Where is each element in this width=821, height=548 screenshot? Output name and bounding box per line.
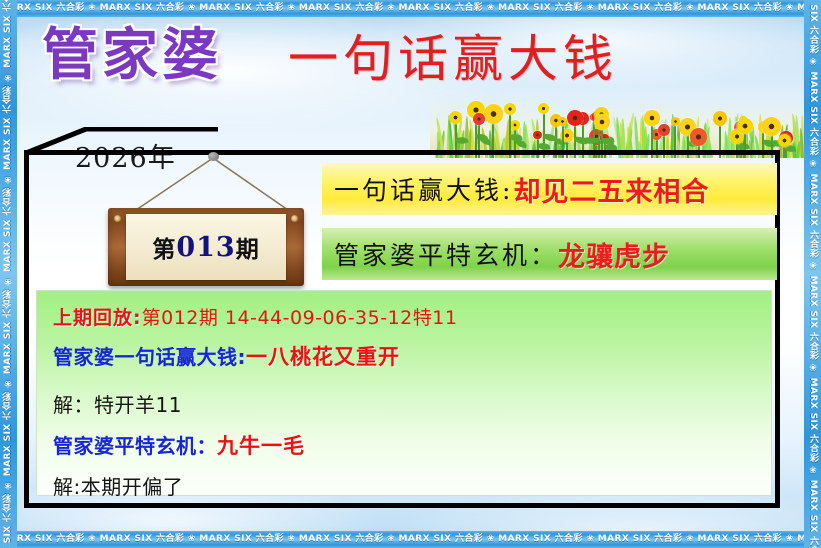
poster-page: 管家婆 一句话赢大钱 MARX SIX 六合彩 ❀ MARX SIX 六合彩 ❀… — [0, 0, 821, 548]
panel-row-saying-label: 管家婆一句话赢大钱: — [53, 341, 246, 370]
issue-number: 013 — [176, 232, 235, 263]
flower-head — [594, 114, 610, 130]
flower-head — [473, 113, 485, 125]
banner-yellow: 一句话赢大钱: 却见二五来相合 — [322, 163, 777, 215]
plaque-nail-icon — [208, 152, 219, 161]
plaque-board: 第013期 — [108, 208, 304, 286]
panel-row-answer-1: 解：特开羊11 — [37, 389, 771, 418]
issue-number-display: 第013期 — [126, 214, 286, 280]
flower-head — [644, 110, 660, 126]
flower-head — [533, 131, 542, 140]
border-strip-bottom: MARX SIX 六合彩 ❀ MARX SIX 六合彩 ❀ MARX SIX 六… — [0, 531, 821, 548]
flower-head — [658, 124, 670, 136]
banner-green: 管家婆平特玄机： 龙骧虎步 — [322, 228, 777, 280]
replay-row: 上期回放: 第012期 14-44-09-06-35-12特11 — [37, 303, 771, 330]
panel-row-mystery-value: 九牛一毛 — [217, 430, 305, 460]
flower-head — [538, 103, 549, 114]
flower-head — [778, 134, 791, 147]
border-strip-right: MARX SIX 六合彩 ❀ MARX SIX 六合彩 ❀ MARX SIX 六… — [804, 0, 821, 548]
panel-row-mystery: 管家婆平特玄机： 九牛一毛 — [37, 430, 771, 460]
hanging-plaque: 第013期 — [90, 150, 320, 290]
replay-value: 第012期 14-44-09-06-35-12特11 — [142, 303, 458, 330]
border-strip-top: MARX SIX 六合彩 ❀ MARX SIX 六合彩 ❀ MARX SIX 六… — [0, 0, 821, 17]
panel-row-answer-1-label: 解：特开羊11 — [53, 389, 182, 418]
flower-head — [762, 117, 781, 136]
flower-head — [690, 128, 708, 146]
banner-yellow-label: 一句话赢大钱: — [334, 171, 513, 207]
banner-green-label: 管家婆平特玄机： — [334, 236, 558, 272]
border-strip-left: MARX SIX 六合彩 ❀ MARX SIX 六合彩 ❀ MARX SIX 六… — [0, 0, 17, 548]
flower-head — [504, 103, 516, 115]
issue-suffix: 期 — [236, 230, 260, 264]
marquee-text-top: MARX SIX 六合彩 ❀ MARX SIX 六合彩 ❀ MARX SIX 六… — [0, 0, 821, 17]
flower-head — [510, 120, 520, 130]
flower-head — [484, 104, 503, 123]
panel-row-saying-value: 一八桃花又重开 — [246, 341, 400, 371]
flower-grass-decoration — [430, 96, 804, 158]
flower-head — [713, 111, 727, 125]
panel-row-mystery-label: 管家婆平特玄机： — [53, 430, 217, 459]
page-title: 一句话赢大钱 — [288, 34, 618, 84]
banner-green-value: 龙骧虎步 — [558, 235, 670, 274]
issue-prefix: 第 — [152, 230, 176, 264]
content-panel: 上期回放: 第012期 14-44-09-06-35-12特11 管家婆一句话赢… — [36, 290, 772, 496]
flower-leaf — [544, 134, 556, 141]
panel-row-saying: 管家婆一句话赢大钱: 一八桃花又重开 — [37, 341, 771, 371]
replay-label: 上期回放: — [53, 303, 142, 330]
banner-yellow-value: 却见二五来相合 — [513, 170, 709, 209]
panel-row-answer-2: 解:本期开偏了 — [37, 471, 771, 500]
marquee-text-bottom: MARX SIX 六合彩 ❀ MARX SIX 六合彩 ❀ MARX SIX 六… — [0, 531, 821, 548]
panel-row-answer-2-label: 解:本期开偏了 — [53, 471, 183, 500]
plaque-paper: 第013期 — [126, 214, 286, 280]
marquee-text-right: MARX SIX 六合彩 ❀ MARX SIX 六合彩 ❀ MARX SIX 六… — [804, 0, 821, 548]
marquee-text-left: MARX SIX 六合彩 ❀ MARX SIX 六合彩 ❀ MARX SIX 六… — [0, 0, 17, 548]
brand-logo: 管家婆 — [42, 28, 222, 84]
